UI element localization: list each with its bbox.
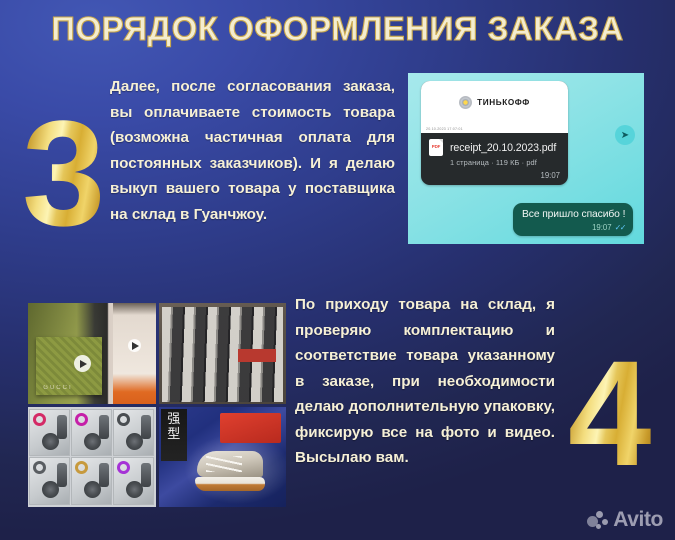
receipt-date: 20.10.2023 17:07:01 [426, 127, 463, 131]
outgoing-timestamp-row: 19:07✓✓ [522, 220, 625, 232]
dryer-ring-icon [33, 461, 46, 474]
product-photo[interactable]: GUCCI [28, 303, 156, 404]
step-text-4: По приходу товара на склад, я проверяю к… [295, 292, 555, 471]
sneaker-laces [206, 456, 242, 472]
dryer-body-shape [57, 463, 67, 487]
read-receipt-icon: ✓✓ [615, 223, 625, 232]
bank-header: ТИНЬКОФФ [421, 96, 568, 109]
step-numeral-3: 3 [22, 98, 105, 248]
photo-side-panel [113, 303, 155, 404]
page-title: ПОРЯДОК ОФОРМЛЕНИЯ ЗАКАЗА [0, 10, 675, 48]
dryer-body-shape [99, 463, 109, 487]
dryer-ring-icon [75, 413, 88, 426]
product-photo[interactable] [159, 303, 287, 404]
tinkoff-logo-icon [459, 96, 472, 109]
photo-package-shape [220, 413, 281, 443]
sneaker-shape [197, 451, 263, 491]
chat-screenshot: ТИНЬКОФФ 20.10.2023 17:07:01 receipt_20.… [408, 73, 644, 244]
dryer-ring-icon [33, 413, 46, 426]
dryer-body-shape [141, 415, 151, 439]
forward-icon[interactable]: ➤ [615, 125, 635, 145]
incoming-timestamp: 19:07 [421, 167, 568, 185]
outgoing-message-text: Все пришло спасибо ! [522, 209, 625, 220]
file-attachment[interactable]: receipt_20.10.2023.pdf [421, 133, 568, 158]
outgoing-message-bubble[interactable]: Все пришло спасибо ! 19:07✓✓ [513, 203, 633, 236]
incoming-message-bubble[interactable]: ТИНЬКОФФ 20.10.2023 17:07:01 receipt_20.… [421, 81, 568, 185]
file-meta: 1 страница · 119 КБ · pdf [421, 158, 568, 167]
sneaker-sole [195, 477, 265, 491]
dryer-body-shape [57, 415, 67, 439]
avito-brand-name: Avito [613, 508, 663, 532]
photo-brand-label: GUCCI [43, 385, 72, 391]
avito-logo-icon [587, 510, 608, 531]
dryer-ring-icon [75, 461, 88, 474]
step-text-3: Далее, после согласования заказа, вы опл… [110, 74, 395, 227]
step-numeral-4: 4 [568, 338, 651, 488]
pdf-file-icon [429, 139, 443, 156]
photo-sign-label: 强型 [161, 409, 187, 461]
product-photo[interactable] [28, 407, 156, 508]
bank-name: ТИНЬКОФФ [477, 98, 530, 107]
product-photo-grid: GUCCI [28, 303, 286, 507]
dryer-ring-icon [117, 461, 130, 474]
outgoing-timestamp: 19:07 [592, 223, 612, 232]
dryer-ring-icon [117, 413, 130, 426]
slide-root: ПОРЯДОК ОФОРМЛЕНИЯ ЗАКАЗА 3 Далее, после… [0, 0, 675, 540]
dryer-body-shape [141, 463, 151, 487]
receipt-preview: ТИНЬКОФФ 20.10.2023 17:07:01 [421, 81, 568, 133]
dryer-body-shape [99, 415, 109, 439]
avito-watermark: Avito [587, 508, 663, 532]
product-photo[interactable]: 强型 [159, 407, 287, 508]
file-name: receipt_20.10.2023.pdf [450, 142, 556, 154]
photo-accent-shape [238, 349, 276, 362]
